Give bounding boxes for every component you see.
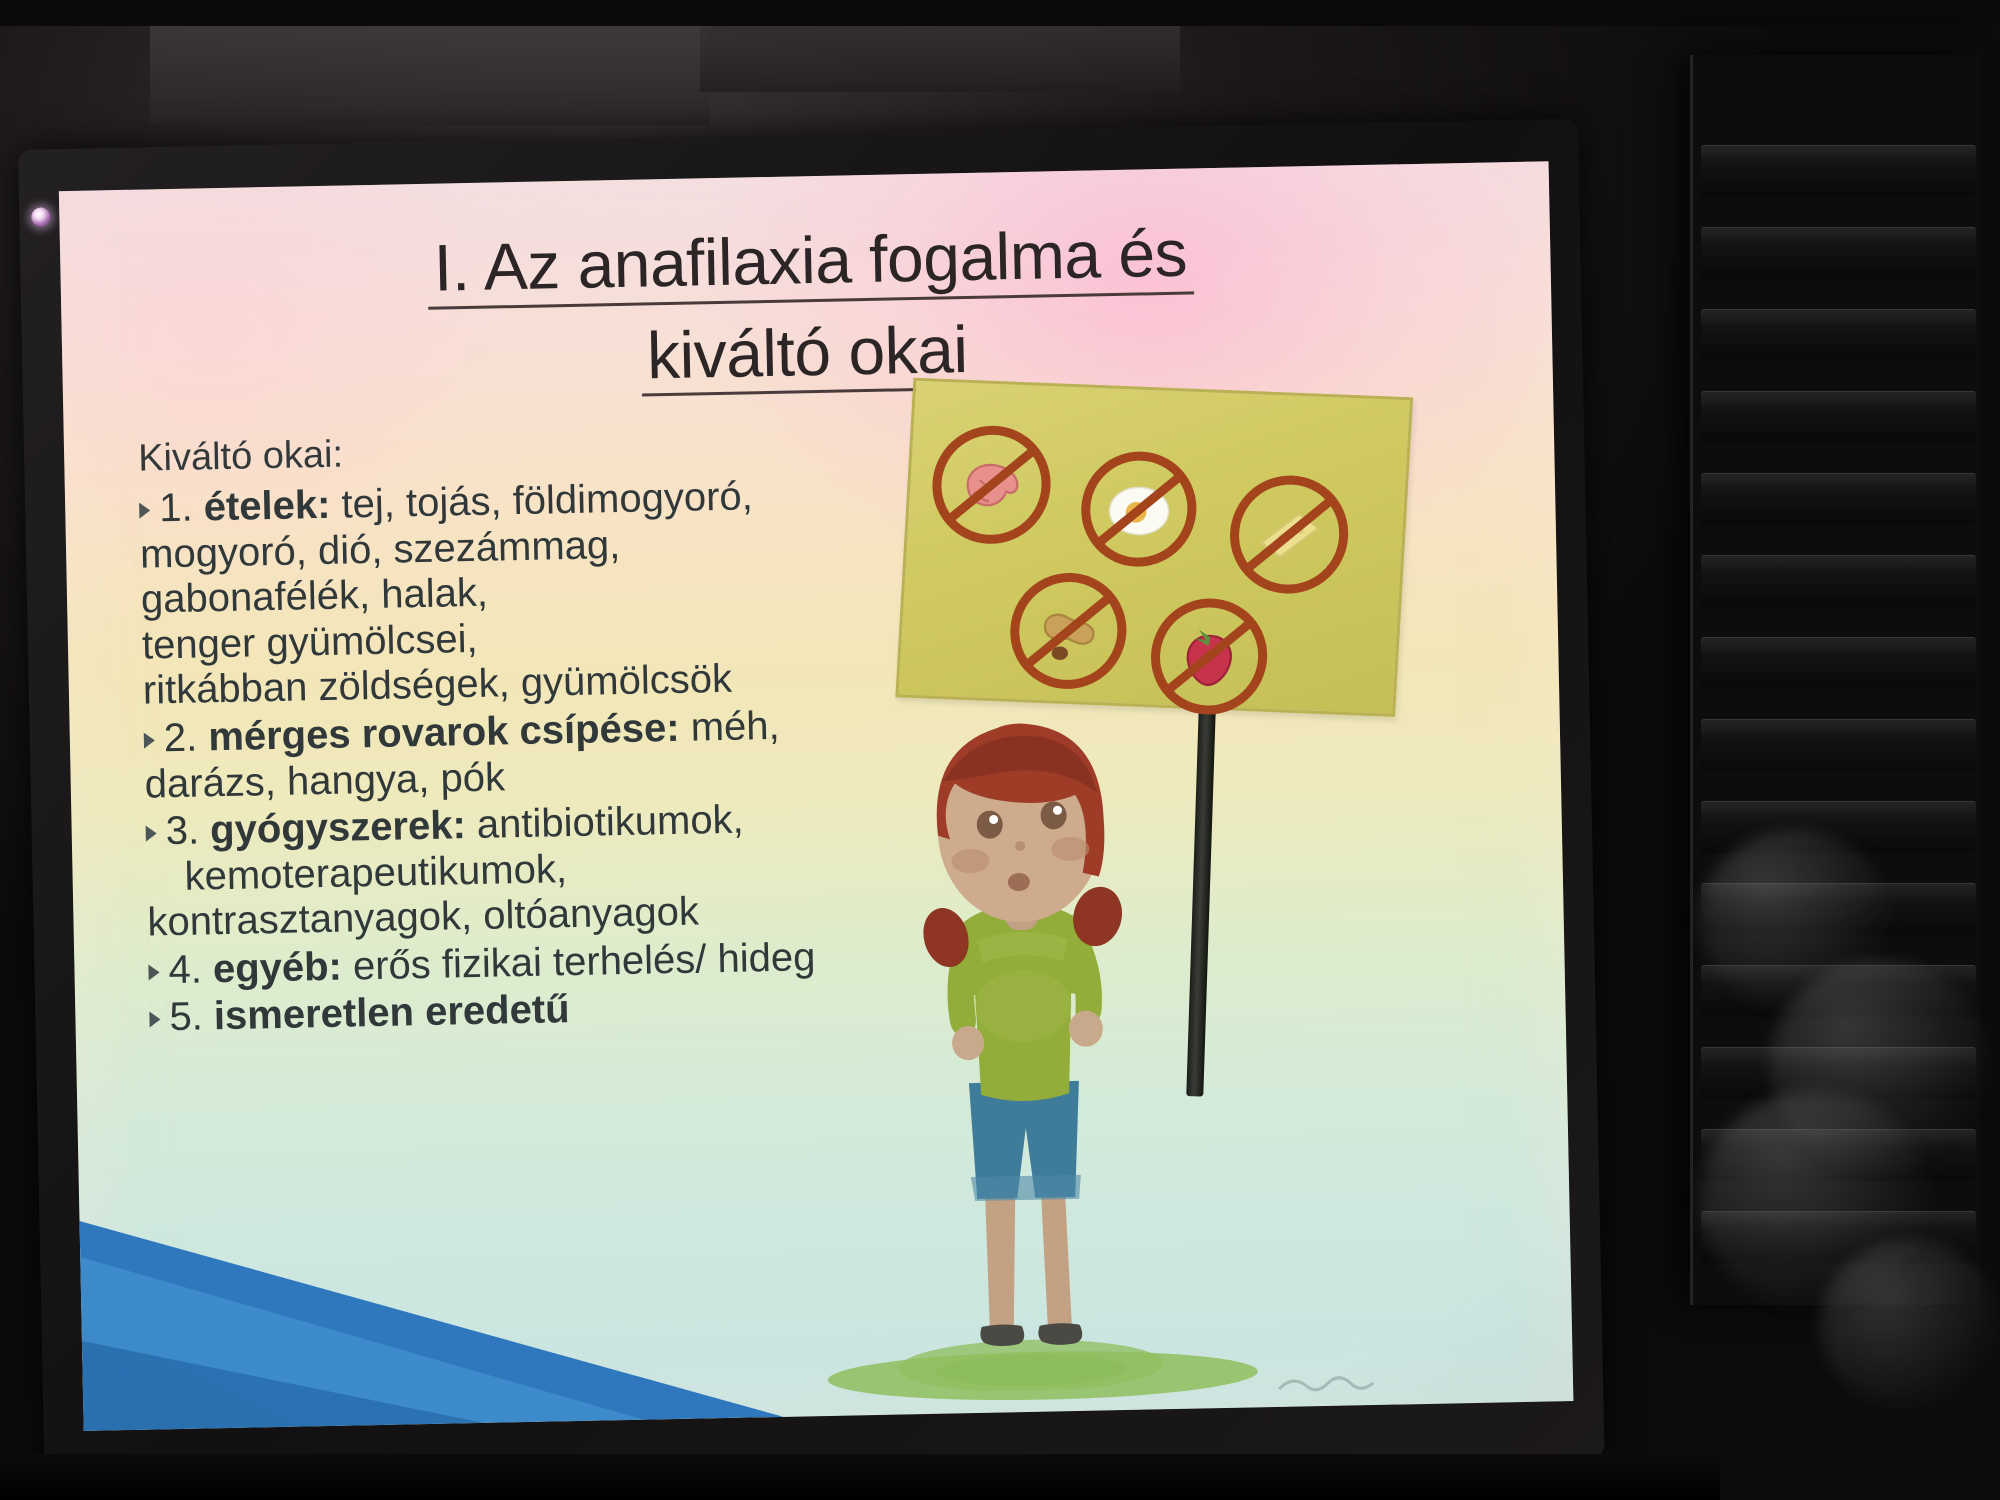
slide-body: Kiváltó okai: 1. ételek: tej, tojás, föl… xyxy=(138,422,910,1041)
slide-title-line1: I. Az anafilaxia fogalma és xyxy=(427,216,1194,309)
triangle-bullet-icon xyxy=(144,732,155,748)
body-lead: Kiváltó okai: xyxy=(138,422,899,480)
triangle-bullet-icon xyxy=(139,502,150,518)
triangle-bullet-icon xyxy=(149,1012,160,1028)
girl-character xyxy=(849,687,1193,1393)
foreground-dark-edge xyxy=(0,1454,1720,1500)
projected-slide: I. Az anafilaxia fogalma és kiváltó okai… xyxy=(59,161,1574,1431)
shrimp-no-icon xyxy=(929,424,1054,546)
egg-no-icon xyxy=(1078,449,1199,568)
triangle-bullet-icon xyxy=(146,825,157,841)
peanut-no-icon xyxy=(1007,571,1129,691)
allergen-warning-sign xyxy=(895,378,1413,717)
bullet-text: 5. ismeretlen eredetű xyxy=(169,988,570,1042)
ceiling-beam xyxy=(0,0,2000,26)
clipart-girl-with-allergen-sign xyxy=(823,380,1543,1414)
photograph-of-projected-slide: I. Az anafilaxia fogalma és kiváltó okai… xyxy=(0,0,2000,1500)
sign-pole xyxy=(1186,676,1217,1096)
triangle-bullet-icon xyxy=(148,964,159,980)
slide-title: I. Az anafilaxia fogalma és kiváltó okai xyxy=(60,209,1553,408)
blurred-object-4 xyxy=(1820,1240,2000,1410)
interactive-whiteboard[interactable]: I. Az anafilaxia fogalma és kiváltó okai… xyxy=(18,119,1605,1490)
slide-corner-decoration xyxy=(79,1166,844,1431)
grass-strip xyxy=(822,1337,1283,1406)
cheese-no-icon xyxy=(1227,473,1352,595)
handwritten-mark xyxy=(1273,1360,1424,1399)
